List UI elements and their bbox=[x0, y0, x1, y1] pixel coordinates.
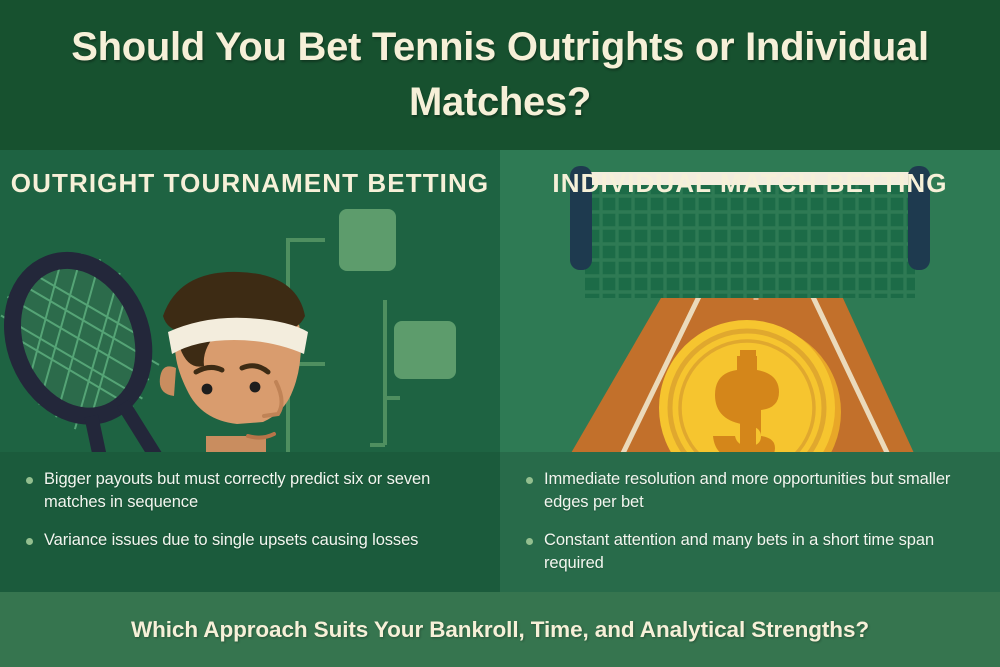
bullet-dot-icon bbox=[526, 538, 533, 545]
list-item: Bigger payouts but must correctly predic… bbox=[26, 468, 478, 515]
bullet-text: Variance issues due to single upsets cau… bbox=[44, 529, 418, 552]
bullet-dot-icon bbox=[526, 477, 533, 484]
bracket-box-final bbox=[394, 321, 456, 379]
panel-individual-match-betting: INDIVIDUAL MATCH BETTING Immediate resol… bbox=[500, 150, 1000, 592]
bullets-outright: Bigger payouts but must correctly predic… bbox=[0, 452, 500, 592]
panel-outright-tournament-betting: OUTRIGHT TOURNAMENT BETTING Bigger payou… bbox=[0, 150, 500, 592]
list-item: Constant attention and many bets in a sh… bbox=[526, 529, 978, 576]
footer-band: Which Approach Suits Your Bankroll, Time… bbox=[0, 592, 1000, 667]
list-item: Variance issues due to single upsets cau… bbox=[26, 529, 478, 552]
bullet-text: Immediate resolution and more opportunit… bbox=[544, 468, 978, 515]
bracket-box-top bbox=[339, 209, 396, 271]
footer-question: Which Approach Suits Your Bankroll, Time… bbox=[131, 617, 869, 643]
bullet-text: Constant attention and many bets in a sh… bbox=[544, 529, 978, 576]
comparison-panels: OUTRIGHT TOURNAMENT BETTING Bigger payou… bbox=[0, 150, 1000, 592]
bullets-individual: Immediate resolution and more opportunit… bbox=[500, 452, 1000, 592]
header-band: Should You Bet Tennis Outrights or Indiv… bbox=[0, 0, 1000, 150]
panel-heading-individual: INDIVIDUAL MATCH BETTING bbox=[500, 166, 1000, 201]
bracket-diagram-icon bbox=[288, 240, 400, 488]
page-title: Should You Bet Tennis Outrights or Indiv… bbox=[10, 20, 990, 130]
bullet-text: Bigger payouts but must correctly predic… bbox=[44, 468, 478, 515]
bullet-dot-icon bbox=[26, 538, 33, 545]
bullet-dot-icon bbox=[26, 477, 33, 484]
infographic-root: Should You Bet Tennis Outrights or Indiv… bbox=[0, 0, 1000, 667]
panel-heading-outright: OUTRIGHT TOURNAMENT BETTING bbox=[0, 166, 500, 201]
list-item: Immediate resolution and more opportunit… bbox=[526, 468, 978, 515]
